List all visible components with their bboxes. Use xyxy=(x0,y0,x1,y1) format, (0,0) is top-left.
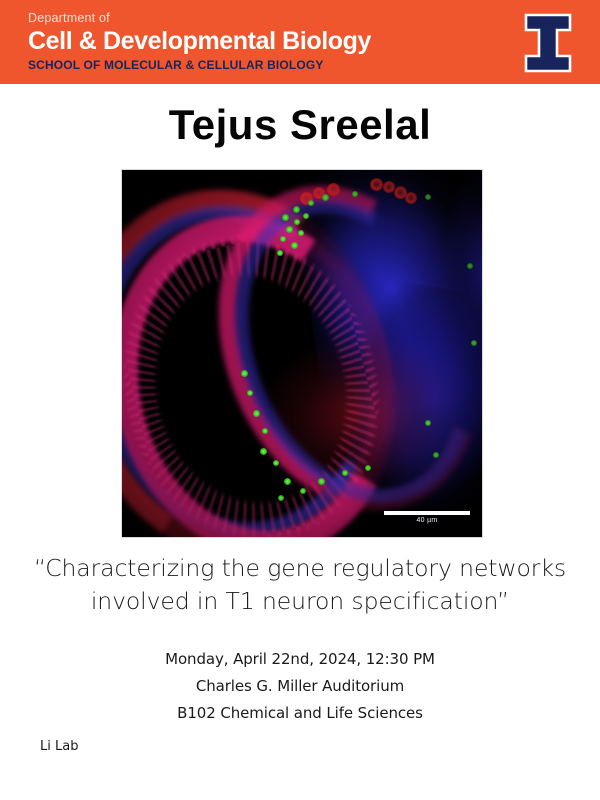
green-neuron xyxy=(282,214,289,221)
green-neuron xyxy=(303,213,309,219)
green-neuron xyxy=(293,206,300,213)
micrograph-canvas: 40 µm xyxy=(122,170,482,537)
header-text-block: Department of Cell & Developmental Biolo… xyxy=(28,10,371,72)
event-room: B102 Chemical and Life Sciences xyxy=(0,700,600,727)
outer-lobe-magenta-arc xyxy=(122,185,431,537)
lab-name: Li Lab xyxy=(40,738,78,756)
green-neuron xyxy=(260,448,267,455)
green-neuron xyxy=(291,242,298,249)
department-name: Cell & Developmental Biology xyxy=(28,27,371,56)
school-name: SCHOOL OF MOLECULAR & CELLULAR BIOLOGY xyxy=(28,58,371,72)
green-neuron xyxy=(284,478,291,485)
scale-bar-label: 40 µm xyxy=(384,516,470,525)
green-neuron xyxy=(352,191,358,197)
green-neuron xyxy=(322,194,329,201)
green-neuron xyxy=(433,452,439,458)
inner-lobe-blue-arc xyxy=(191,170,482,537)
green-neuron xyxy=(298,230,304,236)
header-banner: Department of Cell & Developmental Biolo… xyxy=(0,0,600,84)
red-cell-body xyxy=(405,192,417,204)
green-neuron xyxy=(425,420,431,426)
lobe-striation-pattern xyxy=(122,191,427,537)
green-neuron xyxy=(467,263,473,269)
green-neuron xyxy=(253,410,260,417)
green-neuron xyxy=(308,200,314,206)
talk-title: “Characterizing the gene regulatory netw… xyxy=(30,552,570,618)
outer-lobe-red-arc xyxy=(122,170,431,537)
green-neuron xyxy=(277,250,283,256)
red-cell-body xyxy=(370,178,383,191)
green-neuron xyxy=(425,194,431,200)
green-neuron xyxy=(247,390,253,396)
blue-nuclei-region-a xyxy=(290,170,482,464)
green-neuron xyxy=(241,370,248,377)
green-neuron xyxy=(300,488,306,494)
green-neuron xyxy=(342,470,348,476)
green-neuron xyxy=(294,219,300,225)
green-neuron xyxy=(280,236,286,242)
green-neuron xyxy=(318,478,325,485)
green-neuron xyxy=(278,495,284,501)
scale-bar-line xyxy=(384,511,470,515)
event-datetime: Monday, April 22nd, 2024, 12:30 PM xyxy=(0,646,600,673)
event-details: Monday, April 22nd, 2024, 12:30 PM Charl… xyxy=(0,646,600,727)
scale-bar: 40 µm xyxy=(384,511,470,525)
event-venue: Charles G. Miller Auditorium xyxy=(0,673,600,700)
green-neuron xyxy=(262,428,268,434)
green-neuron xyxy=(273,460,279,466)
green-neuron xyxy=(365,465,371,471)
blue-nuclei-region-b xyxy=(328,276,482,537)
speaker-name: Tejus Sreelal xyxy=(0,100,600,150)
green-neuron xyxy=(286,226,293,233)
green-neuron xyxy=(471,340,477,346)
red-cell-body xyxy=(327,183,340,196)
outer-lobe-blue-arc xyxy=(122,175,412,537)
blue-nuclei-region-right xyxy=(440,170,482,360)
department-eyebrow: Department of xyxy=(28,10,371,26)
inner-lobe-magenta-arc xyxy=(172,170,482,537)
micrograph-figure: 40 µm xyxy=(121,169,483,538)
illinois-block-i-icon xyxy=(522,13,574,73)
image-vignette xyxy=(122,170,482,537)
